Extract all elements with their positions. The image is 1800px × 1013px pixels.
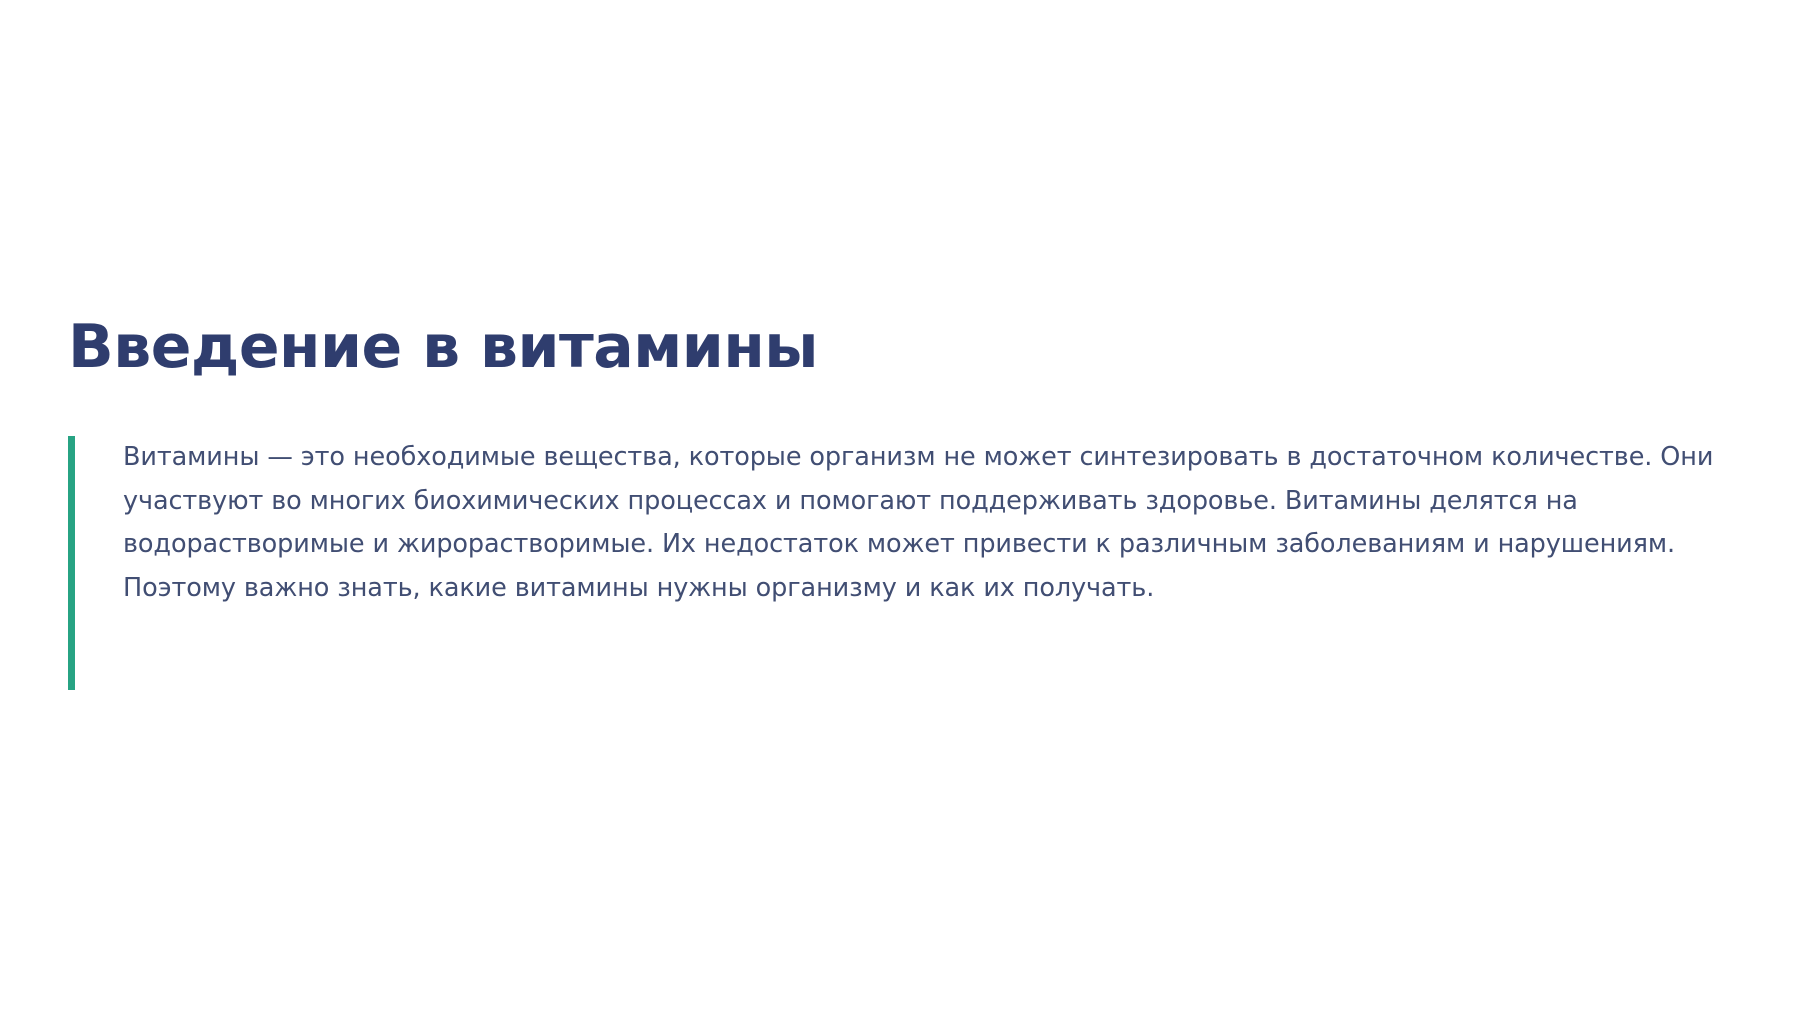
body-paragraph: Витамины — это необходимые вещества, кот… [75, 436, 1728, 690]
accent-bar [68, 436, 75, 690]
body-block: Витамины — это необходимые вещества, кот… [68, 436, 1728, 690]
slide-content: Введение в витамины Витамины — это необх… [0, 0, 1800, 1013]
slide: Введение в витамины Витамины — это необх… [0, 0, 1800, 1013]
page-title: Введение в витамины [68, 312, 1708, 382]
